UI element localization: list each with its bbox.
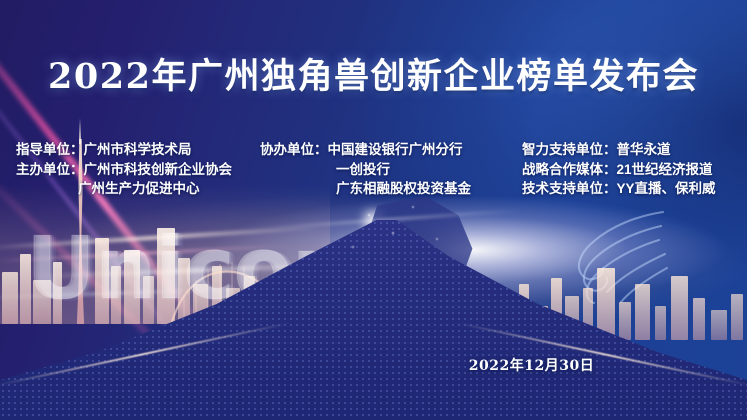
- event-date: 2022年12月30日: [469, 355, 594, 375]
- org-line: 广东相融股权投资基金: [260, 179, 508, 199]
- page-title: 2022年广州独角兽创新企业榜单发布会: [0, 48, 747, 99]
- org-line: 战略合作媒体：21世纪经济报道: [522, 160, 747, 180]
- event-date-row: 2022年12月30日: [0, 355, 747, 375]
- org-line: 广州生产力促进中心: [16, 179, 258, 199]
- org-line: 一创投行: [260, 160, 508, 180]
- org-line: 技术支持单位：YY直播、保利威: [522, 179, 747, 199]
- organization-column-support: 智力支持单位：普华永道 战略合作媒体：21世纪经济报道 技术支持单位：YY直播、…: [508, 140, 747, 199]
- event-poster: Unicorns 2022年广州独角兽创新企业榜单发布会 指导单位：广州市科学技…: [0, 0, 747, 420]
- organizations-block: 指导单位：广州市科学技术局 主办单位：广州市科技创新企业协会 广州生产力促进中心…: [0, 140, 747, 199]
- org-line: 指导单位：广州市科学技术局: [16, 140, 258, 160]
- org-line: 主办单位：广州市科技创新企业协会: [16, 160, 258, 180]
- sparkle-icon: [352, 246, 354, 248]
- organization-column-coorganizers: 协办单位：中国建设银行广州分行 一创投行 广东相融股权投资基金: [258, 140, 508, 199]
- org-line: 协办单位：中国建设银行广州分行: [260, 140, 508, 160]
- organization-column-guiding: 指导单位：广州市科学技术局 主办单位：广州市科技创新企业协会 广州生产力促进中心: [0, 140, 258, 199]
- sparkle-icon: [392, 232, 394, 234]
- sparkle-icon: [412, 206, 414, 208]
- sparkle-icon: [368, 214, 370, 216]
- org-line: 智力支持单位：普华永道: [522, 140, 747, 160]
- sparkle-icon: [436, 238, 438, 240]
